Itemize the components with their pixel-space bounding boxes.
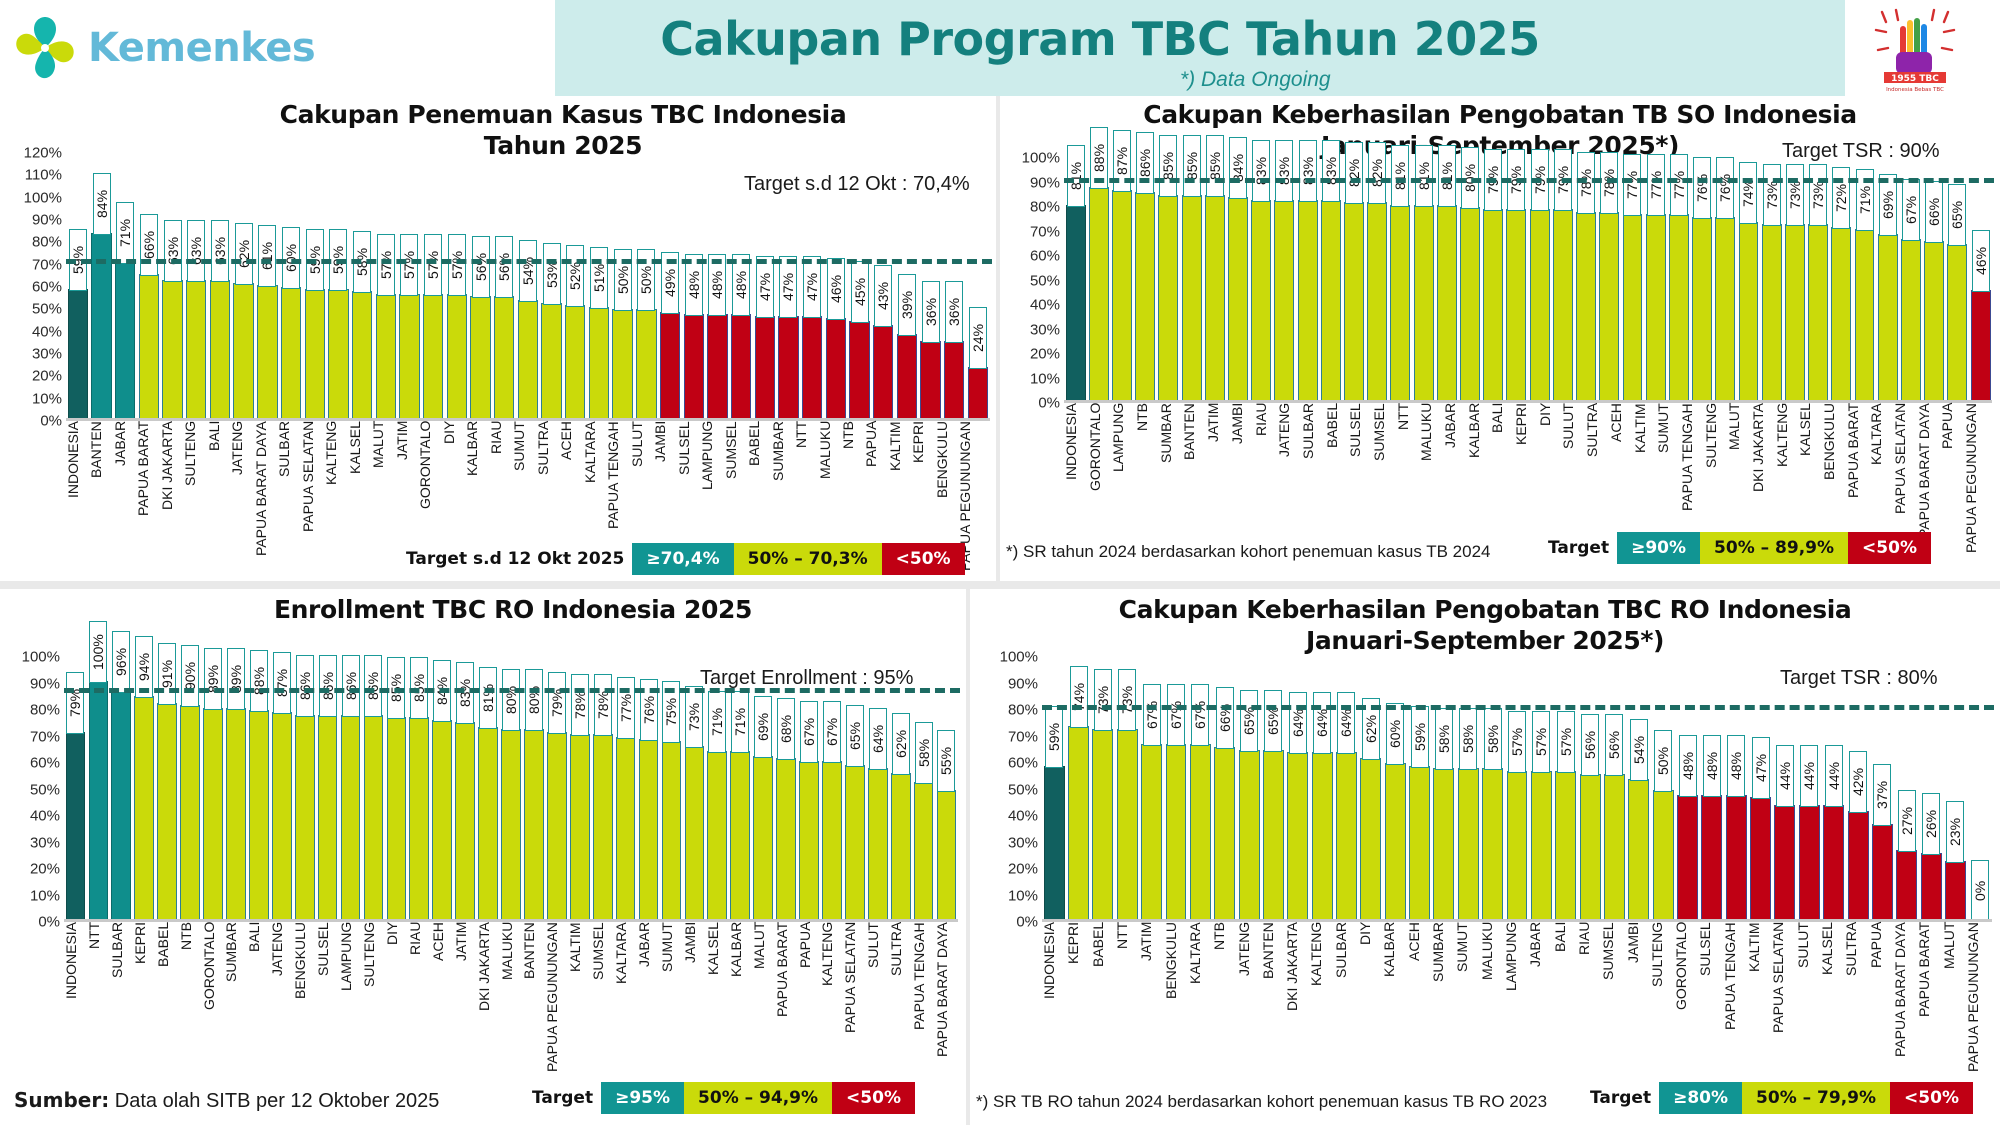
bar[interactable]: [731, 314, 751, 421]
bar-column[interactable]: 67%: [1164, 657, 1188, 922]
bar[interactable]: [1228, 197, 1248, 403]
bar-column[interactable]: 77%: [614, 657, 637, 922]
bar[interactable]: [376, 294, 396, 421]
bar[interactable]: [1531, 771, 1552, 922]
bar[interactable]: [249, 710, 269, 922]
bar-column[interactable]: 90%: [179, 657, 202, 922]
bar[interactable]: [753, 756, 773, 922]
bar-column[interactable]: 64%: [866, 657, 889, 922]
bar[interactable]: [1855, 229, 1875, 403]
bar-column[interactable]: 76%: [1714, 158, 1737, 403]
bar[interactable]: [162, 280, 182, 421]
bar[interactable]: [501, 729, 521, 922]
bar-column[interactable]: 78%: [1574, 158, 1597, 403]
bar[interactable]: [352, 291, 372, 421]
bar-column[interactable]: 68%: [775, 657, 798, 922]
legend-chip[interactable]: <50%: [882, 543, 965, 575]
bar-column[interactable]: 81%: [1412, 158, 1435, 403]
bar-column[interactable]: 80%: [500, 657, 523, 922]
bar[interactable]: [186, 280, 206, 421]
bar-column[interactable]: 58%: [912, 657, 935, 922]
bar[interactable]: [111, 691, 131, 922]
bar-column[interactable]: 62%: [232, 153, 256, 421]
bar[interactable]: [1367, 202, 1387, 403]
bar-column[interactable]: 83%: [1296, 158, 1319, 403]
bar[interactable]: [662, 741, 682, 922]
bar-column[interactable]: 81%: [1389, 158, 1412, 403]
legend-chip[interactable]: 50% – 79,9%: [1742, 1082, 1890, 1114]
bar[interactable]: [1458, 768, 1479, 922]
bar[interactable]: [1344, 202, 1364, 403]
bar[interactable]: [328, 289, 348, 421]
bar-column[interactable]: 83%: [1319, 158, 1342, 403]
bar[interactable]: [1692, 217, 1712, 403]
bar-column[interactable]: 83%: [1273, 158, 1296, 403]
bar[interactable]: [612, 309, 632, 421]
bar[interactable]: [1848, 811, 1869, 922]
bar[interactable]: [1205, 195, 1225, 403]
bar[interactable]: [1774, 805, 1795, 922]
bar-column[interactable]: 64%: [1286, 657, 1310, 922]
bar-column[interactable]: 73%: [1115, 657, 1139, 922]
bar-column[interactable]: 58%: [1456, 657, 1480, 922]
bar[interactable]: [802, 316, 822, 421]
bar-column[interactable]: 85%: [385, 657, 408, 922]
bar[interactable]: [1831, 227, 1851, 403]
bar[interactable]: [778, 316, 798, 421]
bar-column[interactable]: 83%: [1250, 158, 1273, 403]
bar-column[interactable]: 65%: [843, 657, 866, 922]
bar[interactable]: [1576, 212, 1596, 403]
bar[interactable]: [210, 280, 230, 421]
bar-column[interactable]: 58%: [350, 153, 374, 421]
bar[interactable]: [1872, 824, 1893, 922]
bar[interactable]: [305, 289, 325, 421]
bar-column[interactable]: 42%: [1846, 657, 1870, 922]
bar[interactable]: [387, 717, 407, 922]
bar[interactable]: [636, 309, 656, 421]
bar-column[interactable]: 59%: [303, 153, 327, 421]
bar[interactable]: [1530, 209, 1550, 403]
bar-column[interactable]: 57%: [1505, 657, 1529, 922]
bar-column[interactable]: 74%: [1737, 158, 1760, 403]
bar-column[interactable]: 85%: [1203, 158, 1226, 403]
bar-column[interactable]: 49%: [658, 153, 682, 421]
bar[interactable]: [1433, 768, 1454, 922]
bar[interactable]: [518, 300, 538, 421]
bar[interactable]: [432, 720, 452, 922]
bar[interactable]: [1947, 244, 1967, 403]
bar[interactable]: [1336, 752, 1357, 922]
bar-column[interactable]: 85%: [408, 657, 431, 922]
bar[interactable]: [799, 761, 819, 922]
bar[interactable]: [364, 715, 384, 922]
bar[interactable]: [1623, 214, 1643, 403]
bar[interactable]: [1701, 795, 1722, 922]
bar[interactable]: [730, 751, 750, 922]
bar[interactable]: [1066, 205, 1086, 403]
bar[interactable]: [1785, 224, 1805, 403]
bar-column[interactable]: 78%: [1598, 158, 1621, 403]
bar[interactable]: [873, 325, 893, 421]
bar[interactable]: [1117, 729, 1138, 922]
bar[interactable]: [423, 294, 443, 421]
bar[interactable]: [593, 734, 613, 922]
bar[interactable]: [660, 312, 680, 421]
bar[interactable]: [1298, 200, 1318, 403]
bar-column[interactable]: 62%: [889, 657, 912, 922]
bar-column[interactable]: 86%: [316, 657, 339, 922]
bar[interactable]: [1437, 205, 1457, 403]
bar[interactable]: [341, 715, 361, 922]
bar-column[interactable]: 79%: [1551, 158, 1574, 403]
bar-column[interactable]: 73%: [683, 657, 706, 922]
bar[interactable]: [115, 262, 135, 421]
bar[interactable]: [1553, 209, 1573, 403]
bar-column[interactable]: 61%: [256, 153, 280, 421]
bar-column[interactable]: 37%: [1870, 657, 1894, 922]
bar-column[interactable]: 48%: [1675, 657, 1699, 922]
bar-column[interactable]: 75%: [660, 657, 683, 922]
bar[interactable]: [1677, 795, 1698, 922]
bar[interactable]: [203, 708, 223, 922]
bar-column[interactable]: 86%: [293, 657, 316, 922]
bar-column[interactable]: 60%: [279, 153, 303, 421]
bar-column[interactable]: 78%: [591, 657, 614, 922]
bar-column[interactable]: 82%: [1366, 158, 1389, 403]
bar-column[interactable]: 79%: [545, 657, 568, 922]
bar-column[interactable]: 83%: [454, 657, 477, 922]
bar[interactable]: [1808, 224, 1828, 403]
bar[interactable]: [139, 274, 159, 421]
bar[interactable]: [272, 712, 292, 922]
bar-column[interactable]: 48%: [1700, 657, 1724, 922]
bar-column[interactable]: 82%: [1342, 158, 1365, 403]
bar-column[interactable]: 58%: [1432, 657, 1456, 922]
bar[interactable]: [1555, 771, 1576, 922]
bar-column[interactable]: 73%: [1760, 158, 1783, 403]
bar-column[interactable]: 69%: [752, 657, 775, 922]
bar-column[interactable]: 73%: [1091, 657, 1115, 922]
bar[interactable]: [776, 758, 796, 922]
bar-column[interactable]: 48%: [1724, 657, 1748, 922]
bar-column[interactable]: 23%: [1943, 657, 1967, 922]
bar[interactable]: [616, 737, 636, 923]
bar[interactable]: [565, 305, 585, 421]
bar[interactable]: [1483, 209, 1503, 403]
bar[interactable]: [1669, 214, 1689, 403]
bar-column[interactable]: 57%: [421, 153, 445, 421]
bar-column[interactable]: 54%: [516, 153, 540, 421]
bar-column[interactable]: 79%: [1482, 158, 1505, 403]
bar[interactable]: [1599, 212, 1619, 403]
bar[interactable]: [1251, 200, 1271, 403]
legend-chip[interactable]: ≥80%: [1659, 1082, 1742, 1114]
bar-column[interactable]: 81%: [1064, 158, 1087, 403]
bar[interactable]: [1182, 195, 1202, 403]
bar-column[interactable]: 79%: [1505, 158, 1528, 403]
bar-column[interactable]: 64%: [1310, 657, 1334, 922]
bar-column[interactable]: 91%: [156, 657, 179, 922]
bar[interactable]: [157, 703, 177, 922]
legend-chip[interactable]: ≥70,4%: [632, 543, 733, 575]
bar[interactable]: [1762, 224, 1782, 403]
bar-column[interactable]: 89%: [224, 657, 247, 922]
bar[interactable]: [494, 296, 514, 421]
bar[interactable]: [1878, 234, 1898, 403]
bar[interactable]: [180, 705, 200, 922]
bar-column[interactable]: 69%: [1876, 158, 1899, 403]
legend-chip[interactable]: 50% – 89,9%: [1700, 532, 1848, 564]
bar-column[interactable]: 57%: [374, 153, 398, 421]
bar-column[interactable]: 51%: [587, 153, 611, 421]
bar[interactable]: [1715, 217, 1735, 403]
bar[interactable]: [1390, 205, 1410, 403]
bar[interactable]: [1945, 861, 1966, 922]
bar-column[interactable]: 66%: [1213, 657, 1237, 922]
bar-column[interactable]: 85%: [1180, 158, 1203, 403]
bar-column[interactable]: 89%: [202, 657, 225, 922]
bar-column[interactable]: 50%: [635, 153, 659, 421]
bar[interactable]: [1312, 752, 1333, 922]
bar[interactable]: [1580, 774, 1601, 922]
bar-column[interactable]: 54%: [1627, 657, 1651, 922]
bar[interactable]: [589, 307, 609, 421]
bar[interactable]: [1506, 209, 1526, 403]
bar-column[interactable]: 80%: [1458, 158, 1481, 403]
bar[interactable]: [1141, 744, 1162, 922]
bar-column[interactable]: 64%: [1334, 657, 1358, 922]
bar-column[interactable]: 100%: [87, 657, 110, 922]
bar-column[interactable]: 67%: [798, 657, 821, 922]
bar[interactable]: [1409, 766, 1430, 922]
bar-column[interactable]: 86%: [339, 657, 362, 922]
bar[interactable]: [1739, 222, 1759, 403]
bar[interactable]: [914, 782, 934, 922]
bar[interactable]: [1385, 763, 1406, 922]
bar-column[interactable]: 78%: [568, 657, 591, 922]
bar-column[interactable]: 44%: [1797, 657, 1821, 922]
bar-column[interactable]: 94%: [133, 657, 156, 922]
bar-column[interactable]: 81%: [477, 657, 500, 922]
bar[interactable]: [226, 708, 246, 922]
bar[interactable]: [868, 768, 888, 922]
bar[interactable]: [68, 289, 88, 421]
bar-column[interactable]: 55%: [935, 657, 958, 922]
bar-column[interactable]: 59%: [66, 153, 90, 421]
bar[interactable]: [1274, 200, 1294, 403]
bar-column[interactable]: 57%: [445, 153, 469, 421]
bar[interactable]: [639, 739, 659, 922]
bar[interactable]: [318, 715, 338, 922]
bar[interactable]: [1214, 747, 1235, 922]
bar[interactable]: [1460, 207, 1480, 403]
bar[interactable]: [541, 303, 561, 421]
bar-column[interactable]: 44%: [1773, 657, 1797, 922]
bar[interactable]: [845, 765, 865, 922]
bar-column[interactable]: 65%: [1261, 657, 1285, 922]
bar[interactable]: [1507, 771, 1528, 922]
bar[interactable]: [281, 287, 301, 421]
bar-column[interactable]: 71%: [706, 657, 729, 922]
bar[interactable]: [1896, 850, 1917, 922]
bar-column[interactable]: 44%: [1822, 657, 1846, 922]
bar-column[interactable]: 58%: [1480, 657, 1504, 922]
bar-column[interactable]: 65%: [1237, 657, 1261, 922]
bar-column[interactable]: 59%: [1042, 657, 1066, 922]
bar-column[interactable]: 76%: [637, 657, 660, 922]
bar-column[interactable]: 50%: [1651, 657, 1675, 922]
bar-column[interactable]: 0%: [1968, 657, 1992, 922]
bar-column[interactable]: 77%: [1644, 158, 1667, 403]
legend-chip[interactable]: <50%: [832, 1082, 915, 1114]
legend-chip[interactable]: ≥90%: [1617, 532, 1700, 564]
bar[interactable]: [1263, 750, 1284, 922]
bar[interactable]: [1360, 758, 1381, 922]
bar[interactable]: [447, 294, 467, 421]
bar-column[interactable]: 81%: [1435, 158, 1458, 403]
bar[interactable]: [1604, 774, 1625, 922]
bar[interactable]: [944, 341, 964, 421]
bar-column[interactable]: 47%: [1748, 657, 1772, 922]
bar[interactable]: [707, 751, 727, 922]
bar-column[interactable]: 59%: [327, 153, 351, 421]
bar-column[interactable]: 63%: [161, 153, 185, 421]
bar-column[interactable]: 67%: [1188, 657, 1212, 922]
bar-column[interactable]: 57%: [1529, 657, 1553, 922]
bar[interactable]: [295, 715, 315, 922]
bar-column[interactable]: 71%: [113, 153, 137, 421]
bar[interactable]: [89, 681, 109, 922]
bar-column[interactable]: 74%: [1066, 657, 1090, 922]
bar[interactable]: [920, 341, 940, 421]
bar[interactable]: [684, 314, 704, 421]
bar[interactable]: [1190, 744, 1211, 922]
bar-column[interactable]: 79%: [64, 657, 87, 922]
bar-column[interactable]: 27%: [1895, 657, 1919, 922]
legend-chip[interactable]: ≥95%: [601, 1082, 684, 1114]
bar-column[interactable]: 50%: [611, 153, 635, 421]
bar[interactable]: [849, 321, 869, 422]
bar[interactable]: [1799, 805, 1820, 922]
bar[interactable]: [1628, 779, 1649, 922]
bar-column[interactable]: 66%: [1923, 158, 1946, 403]
bar-column[interactable]: 48%: [706, 153, 730, 421]
bar-column[interactable]: 76%: [1690, 158, 1713, 403]
bar[interactable]: [399, 294, 419, 421]
legend-chip[interactable]: 50% – 70,3%: [734, 543, 882, 575]
bar-column[interactable]: 66%: [137, 153, 161, 421]
bar[interactable]: [937, 790, 957, 923]
bar-column[interactable]: 48%: [682, 153, 706, 421]
bar-column[interactable]: 67%: [1899, 158, 1922, 403]
bar[interactable]: [478, 727, 498, 922]
bar[interactable]: [755, 316, 775, 421]
bar[interactable]: [455, 722, 475, 922]
bar-column[interactable]: 57%: [398, 153, 422, 421]
bar[interactable]: [1092, 729, 1113, 922]
bar[interactable]: [1135, 192, 1155, 403]
legend-chip[interactable]: 50% – 94,9%: [684, 1082, 832, 1114]
bar-column[interactable]: 59%: [1407, 657, 1431, 922]
bar-column[interactable]: 60%: [1383, 657, 1407, 922]
bar-column[interactable]: 53%: [540, 153, 564, 421]
bar-column[interactable]: 65%: [1946, 158, 1969, 403]
bar[interactable]: [1901, 239, 1921, 403]
bar[interactable]: [1823, 805, 1844, 922]
bar-column[interactable]: 72%: [1830, 158, 1853, 403]
bar-column[interactable]: 56%: [1602, 657, 1626, 922]
bar[interactable]: [134, 696, 154, 922]
bar[interactable]: [409, 717, 429, 922]
bar[interactable]: [257, 285, 277, 421]
bar-column[interactable]: 84%: [90, 153, 114, 421]
bar[interactable]: [1112, 190, 1132, 403]
bar-column[interactable]: 79%: [1528, 158, 1551, 403]
bar-column[interactable]: 56%: [492, 153, 516, 421]
bar[interactable]: [1166, 744, 1187, 922]
bar-column[interactable]: 88%: [247, 657, 270, 922]
bar[interactable]: [822, 761, 842, 922]
bar-column[interactable]: 84%: [431, 657, 454, 922]
bar-column[interactable]: 67%: [1139, 657, 1163, 922]
bar[interactable]: [1971, 290, 1991, 403]
bar[interactable]: [524, 729, 544, 922]
bar[interactable]: [968, 367, 988, 421]
bar-column[interactable]: 73%: [1807, 158, 1830, 403]
bar-column[interactable]: 77%: [1621, 158, 1644, 403]
bar-column[interactable]: 57%: [1554, 657, 1578, 922]
bar[interactable]: [1653, 790, 1674, 923]
bar[interactable]: [1482, 768, 1503, 922]
bar-column[interactable]: 63%: [184, 153, 208, 421]
bar[interactable]: [1750, 797, 1771, 922]
bar[interactable]: [707, 314, 727, 421]
bar[interactable]: [826, 318, 846, 421]
bar[interactable]: [1921, 853, 1942, 922]
bar[interactable]: [1321, 200, 1341, 403]
bar[interactable]: [1158, 195, 1178, 403]
bar[interactable]: [547, 732, 567, 922]
bar-column[interactable]: 77%: [1667, 158, 1690, 403]
bar-column[interactable]: 87%: [270, 657, 293, 922]
bar[interactable]: [1089, 187, 1109, 403]
bar-column[interactable]: 46%: [1969, 158, 1992, 403]
bar-column[interactable]: 96%: [110, 657, 133, 922]
bar[interactable]: [1239, 750, 1260, 922]
bar[interactable]: [1287, 752, 1308, 922]
bar[interactable]: [1068, 726, 1089, 922]
bar[interactable]: [233, 283, 253, 421]
bar-column[interactable]: 86%: [362, 657, 385, 922]
bar-column[interactable]: 73%: [1783, 158, 1806, 403]
bar[interactable]: [1044, 766, 1065, 922]
bar-column[interactable]: 56%: [469, 153, 493, 421]
bar[interactable]: [891, 773, 911, 922]
bar-column[interactable]: 86%: [1134, 158, 1157, 403]
bar[interactable]: [66, 732, 86, 922]
bar[interactable]: [1414, 205, 1434, 403]
bar[interactable]: [1726, 795, 1747, 922]
bar-column[interactable]: 71%: [729, 657, 752, 922]
bar-column[interactable]: 62%: [1359, 657, 1383, 922]
bar[interactable]: [897, 334, 917, 421]
legend-chip[interactable]: <50%: [1848, 532, 1931, 564]
bar-column[interactable]: 56%: [1578, 657, 1602, 922]
bar-column[interactable]: 67%: [820, 657, 843, 922]
bar[interactable]: [1924, 241, 1944, 403]
bar-column[interactable]: 26%: [1919, 657, 1943, 922]
